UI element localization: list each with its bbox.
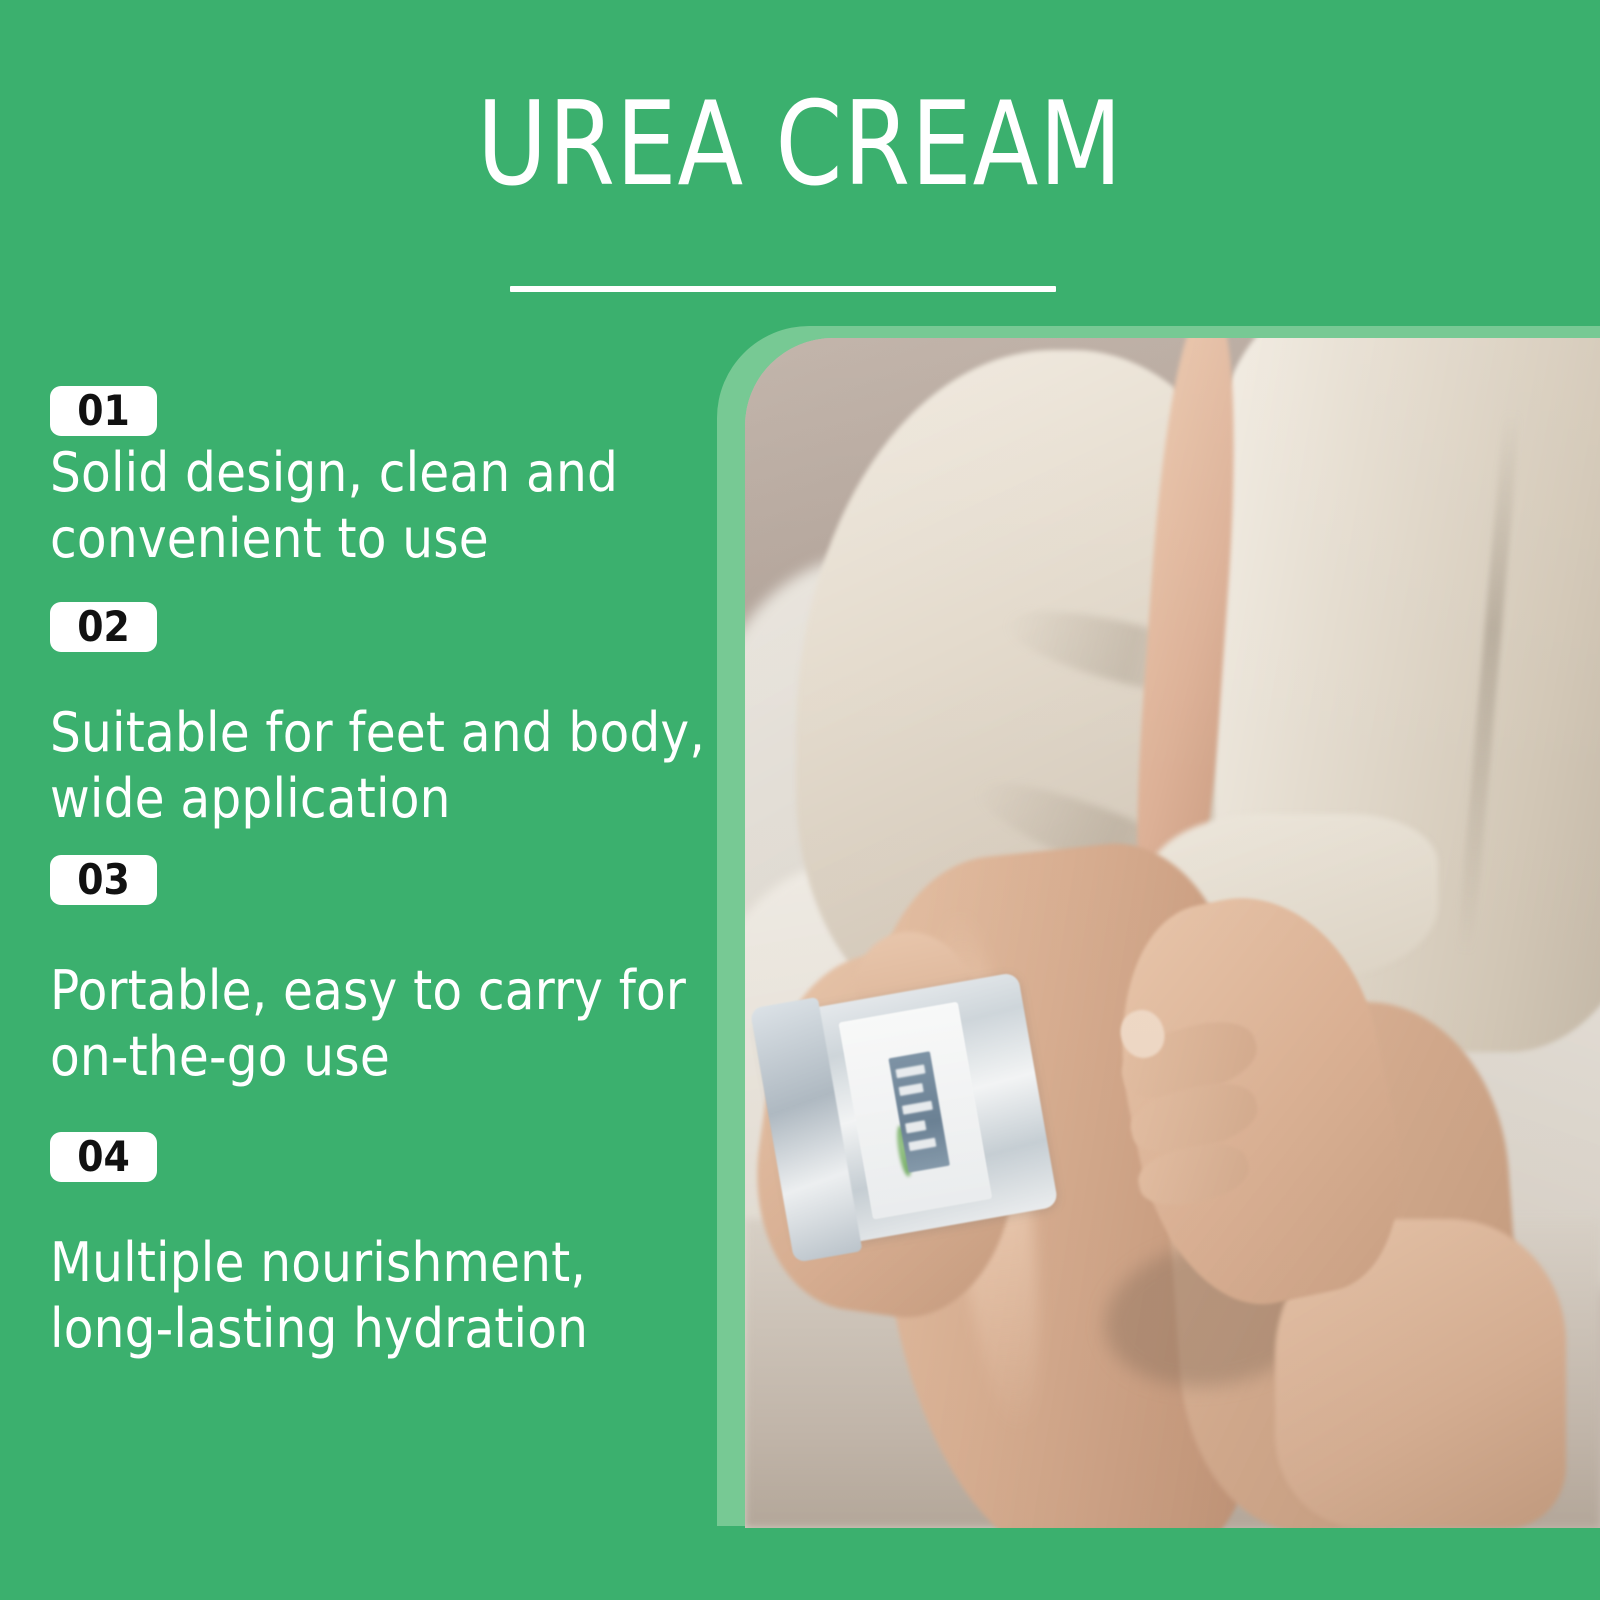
bottle-label-line (895, 1063, 926, 1077)
feature-text-03: Portable, easy to carry for on-the-go us… (50, 958, 718, 1090)
feature-text-01: Solid design, clean and convenient to us… (50, 440, 718, 572)
bottle-label-line (901, 1100, 933, 1114)
bottle-label-text-block (889, 1051, 950, 1172)
feature-list: 01 Solid design, clean and convenient to… (0, 0, 720, 1600)
feature-text-04: Multiple nourishment, long-lasting hydra… (50, 1230, 718, 1362)
feature-badge-03: 03 (50, 855, 157, 905)
bottle-label-line (908, 1137, 937, 1151)
product-feature-poster: UREA CREAM (0, 0, 1600, 1600)
bottle-label-line (898, 1083, 923, 1096)
feature-text-02: Suitable for feet and body, wide applica… (50, 700, 718, 832)
product-bottle (756, 971, 1058, 1251)
bottle-label-line (904, 1120, 926, 1133)
feature-badge-01: 01 (50, 386, 157, 436)
feature-badge-04: 04 (50, 1132, 157, 1182)
product-lifestyle-photo (745, 338, 1600, 1528)
feature-badge-02: 02 (50, 602, 157, 652)
